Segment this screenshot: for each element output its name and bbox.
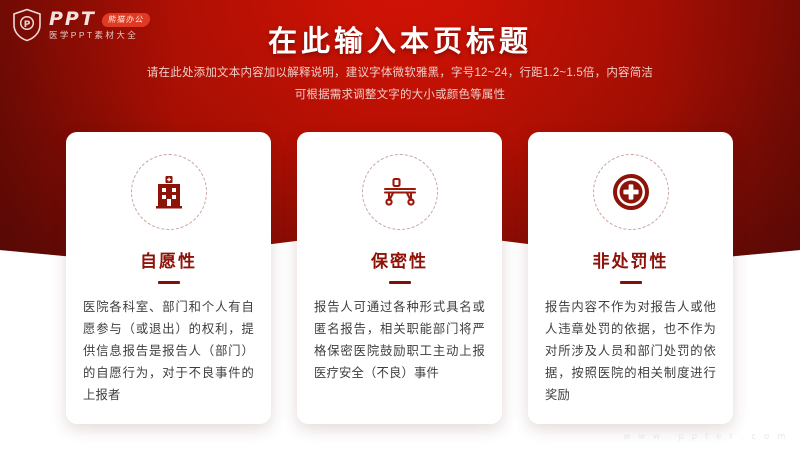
title-divider xyxy=(158,281,180,284)
hospital-building-icon xyxy=(131,154,207,230)
site-watermark: w w w . p p t e r . c o m xyxy=(623,432,788,442)
card-confidentiality[interactable]: 保密性 报告人可通过各种形式具名或匿名报告，相关职能部门将严格保密医院鼓励职工主… xyxy=(297,132,502,424)
card-body: 报告人可通过各种形式具名或匿名报告，相关职能部门将严格保密医院鼓励职工主动上报医… xyxy=(314,297,485,385)
slide-canvas: P PPT 熊猫办公 医学PPT素材大全 在此输入本页标题 请在此处添加文本内容… xyxy=(0,0,800,450)
subtitle-line-2: 可根据需求调整文字的大小或颜色等属性 xyxy=(80,84,720,106)
title-divider xyxy=(389,281,411,284)
subtitle-line-1: 请在此处添加文本内容加以解释说明，建议字体微软雅黑，字号12~24，行距1.2~… xyxy=(80,62,720,84)
card-title: 自愿性 xyxy=(140,247,197,272)
card-row: 自愿性 医院各科室、部门和个人有自愿参与（或退出）的权利，提供信息报告是报告人（… xyxy=(66,132,734,424)
card-title: 非处罚性 xyxy=(593,247,669,272)
hospital-bed-icon xyxy=(362,154,438,230)
page-title: 在此输入本页标题 xyxy=(0,18,800,60)
page-subtitle: 请在此处添加文本内容加以解释说明，建议字体微软雅黑，字号12~24，行距1.2~… xyxy=(80,62,720,107)
card-body: 报告内容不作为对报告人或他人违章处罚的依据，也不作为对所涉及人员和部门处罚的依据… xyxy=(545,297,716,406)
card-voluntary[interactable]: 自愿性 医院各科室、部门和个人有自愿参与（或退出）的权利，提供信息报告是报告人（… xyxy=(66,132,271,424)
card-non-punitive[interactable]: 非处罚性 报告内容不作为对报告人或他人违章处罚的依据，也不作为对所涉及人员和部门… xyxy=(528,132,733,424)
title-divider xyxy=(620,281,642,284)
card-body: 医院各科室、部门和个人有自愿参与（或退出）的权利，提供信息报告是报告人（部门）的… xyxy=(83,297,254,406)
medical-cross-icon xyxy=(593,154,669,230)
card-title: 保密性 xyxy=(371,247,428,272)
